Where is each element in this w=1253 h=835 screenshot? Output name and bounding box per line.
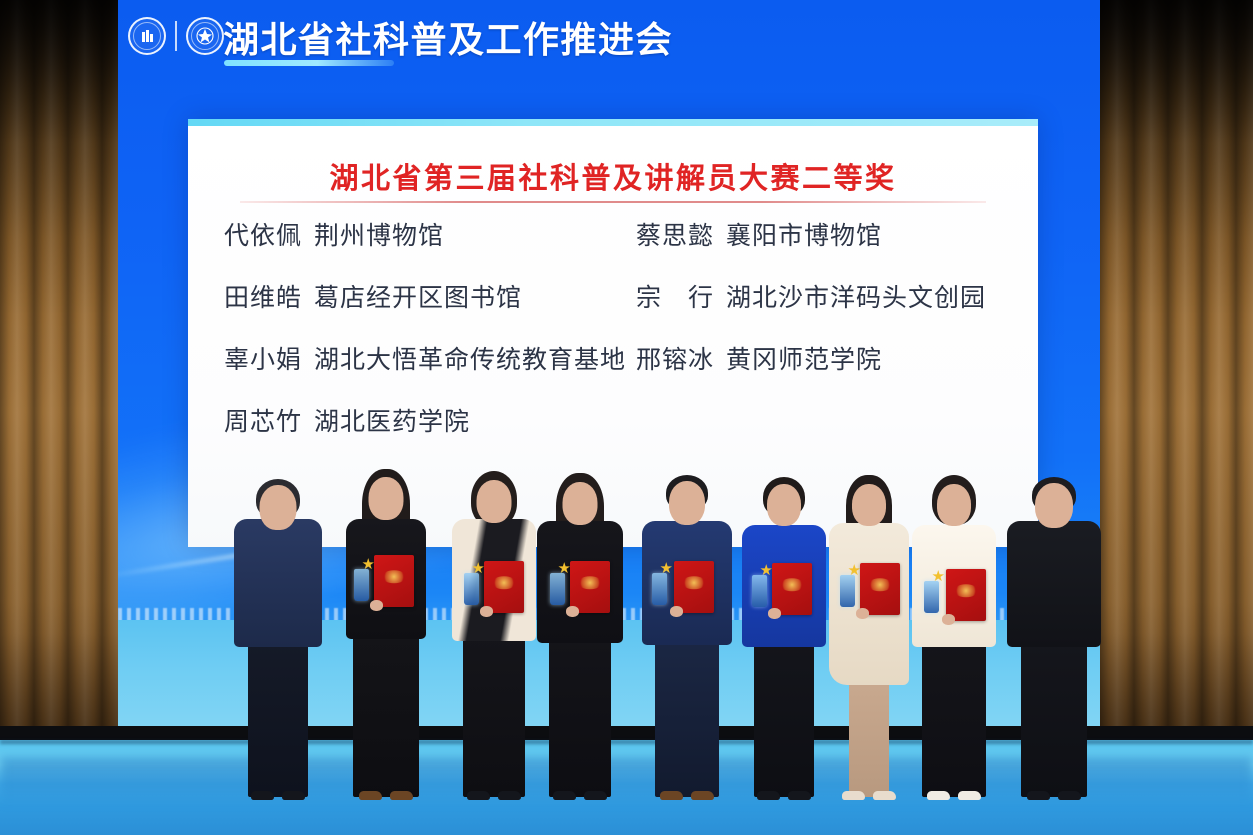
shoe [1058,791,1081,800]
hand [566,606,579,617]
head [563,482,598,525]
logo-divider [175,21,177,51]
awardee-org: 湖北大悟革命传统教育基地 [314,340,626,376]
awardee-name: 辜小娟 [224,340,302,376]
banner: 湖北省社科普及工作推进会 [118,0,1100,92]
head [477,480,512,523]
legs [549,637,611,797]
slide-card-top-edge [188,119,1038,126]
awardee-list: 代依佩 荆州博物馆 蔡思懿 襄阳市博物馆 田维皓 葛店经开区图书馆 宗 行 湖北… [224,216,1014,438]
legs [248,641,308,797]
shoe [584,791,607,800]
hand [480,606,493,617]
certificate [946,569,986,621]
hand [768,608,781,619]
legs [655,639,719,797]
trophy-icon: ★ [550,561,565,605]
shoe [1027,791,1050,800]
certificate [860,563,900,615]
shoe [927,791,950,800]
trophy-icon: ★ [464,561,479,605]
legs [353,633,419,797]
list-item: 代依佩 荆州博物馆 [224,216,636,252]
awardee-org: 湖北医药学院 [314,402,470,438]
head [937,484,971,526]
stage-curtain-right [1100,0,1253,792]
social-science-association-emblem-icon [186,17,224,55]
slide-title-rule [240,201,986,203]
shoe [251,791,274,800]
awardee-org: 荆州博物馆 [314,216,444,252]
trophy-icon: ★ [652,561,667,605]
head [1035,483,1073,528]
stage-curtain-left [0,0,118,792]
list-item: 宗 行 湖北沙市洋码头文创园 [636,278,1014,314]
awardee-name: 周芯竹 [224,402,302,438]
shoe [757,791,780,800]
certificate [374,555,414,607]
slide-title: 湖北省第三届社科普及讲解员大赛二等奖 [188,155,1038,197]
shoe [842,791,865,800]
hand [670,606,683,617]
list-item: 蔡思懿 襄阳市博物馆 [636,216,1014,252]
awardee-org: 湖北沙市洋码头文创园 [726,278,986,314]
shoe [873,791,896,800]
awardee-name: 宗 行 [636,278,714,314]
people-group: ★ ★ [118,457,1100,797]
trophy-icon: ★ [840,563,855,607]
legs [754,641,814,797]
shoe [660,791,683,800]
hand [370,600,383,611]
certificate [484,561,524,613]
shoe [691,791,714,800]
legs [922,641,986,797]
list-item: 周芯竹 湖北医药学院 [224,402,636,438]
stage-photo: 湖北省社科普及工作推进会 湖北省第三届社科普及讲解员大赛二等奖 代依佩 荆州博物… [0,0,1253,835]
shoe [788,791,811,800]
torso [1007,521,1101,647]
trophy-icon: ★ [924,569,939,613]
awardee-org: 葛店经开区图书馆 [314,278,522,314]
awardee-org: 黄冈师范学院 [726,340,882,376]
shoe [282,791,305,800]
head [369,477,404,520]
banner-underline [224,60,394,66]
shoe [359,791,382,800]
awardee-name: 蔡思懿 [636,216,714,252]
list-item: 田维皓 葛店经开区图书馆 [224,278,636,314]
torso [234,519,322,647]
list-item: 辜小娟 湖北大悟革命传统教育基地 [224,340,636,376]
head [669,481,705,525]
head [767,484,801,526]
shoe [390,791,413,800]
legs [1021,641,1087,797]
banner-title: 湖北省社科普及工作推进会 [223,11,673,63]
trophy-icon: ★ [752,563,767,607]
awardee-name: 代依佩 [224,216,302,252]
shoe [553,791,576,800]
awardee-org: 襄阳市博物馆 [726,216,882,252]
list-item: 邢镕冰 黄冈师范学院 [636,340,1014,376]
hand [942,614,955,625]
hand [856,608,869,619]
certificate [674,561,714,613]
head [260,485,297,530]
shoe [498,791,521,800]
awardee-name: 邢镕冰 [636,340,714,376]
trophy-icon: ★ [354,557,369,601]
certificate [570,561,610,613]
legs [463,635,525,797]
person-awardee-1: ★ [340,469,432,797]
awardee-name: 田维皓 [224,278,302,314]
shoe [958,791,981,800]
shoe [467,791,490,800]
legs [849,679,889,797]
head [852,484,886,526]
certificate [772,563,812,615]
hubei-academy-emblem-icon [128,17,166,55]
logo-group [128,17,224,55]
